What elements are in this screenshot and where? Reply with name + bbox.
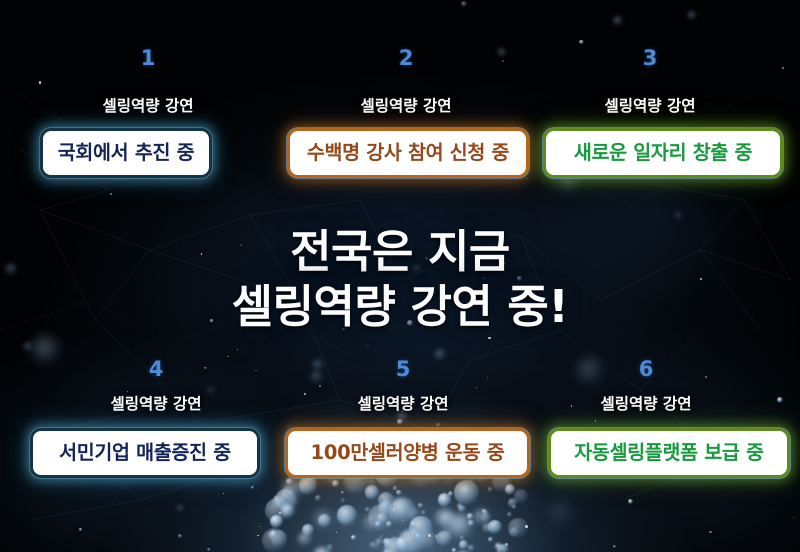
status-card-3[interactable]: 새로운 일자리 창출 중 [543, 128, 783, 178]
status-card-1[interactable]: 국회에서 추진 중 [40, 128, 212, 178]
status-card-5-text: 100만셀러양병 운동 중 [311, 443, 505, 463]
card-number-4: 4 [118, 357, 194, 381]
card-sublabel-3: 셀링역량 강연 [562, 94, 738, 116]
card-sublabel-4: 셀링역량 강연 [68, 392, 244, 414]
card-number-6: 6 [608, 357, 684, 381]
status-card-2-text: 수백명 강사 참여 신청 중 [307, 143, 509, 163]
status-card-3-text: 새로운 일자리 창출 중 [574, 143, 752, 163]
status-card-1-text: 국회에서 추진 중 [58, 143, 194, 163]
card-sublabel-2: 셀링역량 강연 [318, 94, 494, 116]
page-title-line-2: 셀링역량 강연 중! [0, 280, 800, 335]
card-sublabel-6: 셀링역량 강연 [558, 392, 734, 414]
status-card-6-text: 자동셀링플랫폼 보급 중 [574, 443, 763, 463]
page-title-line-1: 전국은 지금 [0, 225, 800, 280]
status-card-4-text: 서민기업 매출증진 중 [59, 443, 231, 463]
status-card-6[interactable]: 자동셀링플랫폼 보급 중 [548, 428, 790, 478]
page-title: 전국은 지금 셀링역량 강연 중! [0, 225, 800, 335]
card-number-2: 2 [368, 46, 444, 70]
card-number-5: 5 [365, 357, 441, 381]
card-sublabel-5: 셀링역량 강연 [315, 392, 491, 414]
status-card-4[interactable]: 서민기업 매출증진 중 [30, 428, 260, 478]
promotional-banner: 1 셀링역량 강연 국회에서 추진 중 2 셀링역량 강연 수백명 강사 참여 … [0, 0, 800, 552]
card-number-1: 1 [110, 46, 186, 70]
status-card-2[interactable]: 수백명 강사 참여 신청 중 [287, 128, 529, 178]
card-sublabel-1: 셀링역량 강연 [60, 94, 236, 116]
card-number-3: 3 [612, 46, 688, 70]
status-card-5[interactable]: 100만셀러양병 운동 중 [285, 428, 530, 478]
